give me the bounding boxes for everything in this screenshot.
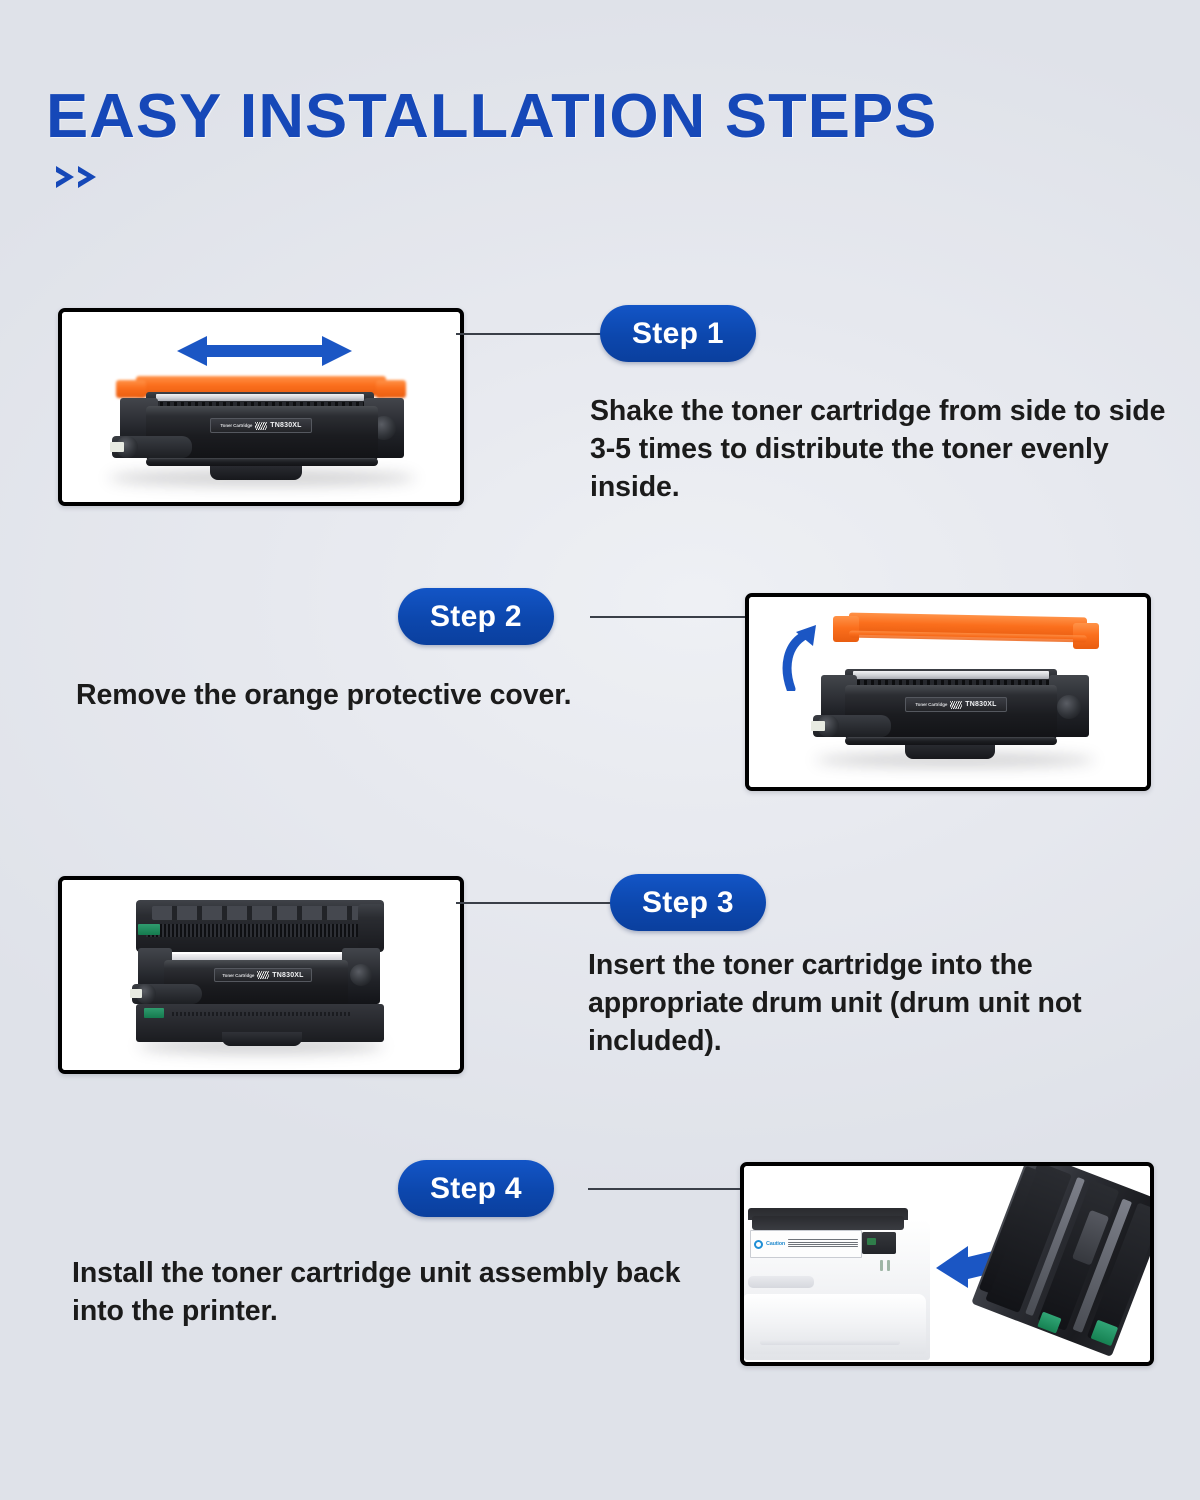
step-2-connector (590, 616, 745, 618)
step-1-image-frame: Toner Cartridge TN830XL (58, 308, 464, 506)
printer-illustration: Caution (740, 1208, 940, 1358)
step-1-description: Shake the toner cartridge from side to s… (590, 392, 1170, 507)
cartridge-label-model: TN830XL (272, 972, 303, 979)
step-4-photo: Caution (744, 1166, 1150, 1362)
orange-protective-cover (831, 613, 1101, 653)
double-headed-horizontal-arrow-icon (177, 334, 352, 368)
step-4-badge[interactable]: Step 4 (398, 1160, 554, 1217)
step-3-badge[interactable]: Step 3 (610, 874, 766, 931)
printer-label-word: Caution (766, 1241, 785, 1247)
toner-cartridge-illustration: Toner Cartridge TN830XL (805, 657, 1105, 775)
step-4-image-frame: Caution (740, 1162, 1154, 1366)
step-2-description: Remove the orange protective cover. (76, 676, 696, 714)
step-4-connector (588, 1188, 740, 1190)
cartridge-label-model: TN830XL (965, 701, 996, 708)
step-1-badge[interactable]: Step 1 (600, 305, 756, 362)
recycle-logo-icon (754, 1240, 763, 1249)
cartridge-label: Toner Cartridge TN830XL (210, 418, 312, 433)
drum-unit-illustration: Toner Cartridge TN830XL (130, 898, 392, 1058)
brand-logo-icon (950, 701, 962, 709)
double-chevron-right-icon (52, 162, 920, 192)
step-2-image-frame: Toner Cartridge TN830XL (745, 593, 1151, 791)
cartridge-label: Toner Cartridge TN830XL (214, 968, 312, 982)
step-3-badge-label: Step 3 (642, 886, 734, 920)
step-3-image-frame: Toner Cartridge TN830XL (58, 876, 464, 1074)
cartridge-label-brand: Toner Cartridge (222, 973, 254, 978)
brand-logo-icon (255, 422, 267, 430)
toner-cartridge-illustration: Toner Cartridge TN830XL (98, 374, 426, 494)
step-2-badge-label: Step 2 (430, 600, 522, 634)
page-title: EASY INSTALLATION STEPS (46, 86, 937, 148)
brand-logo-icon (257, 971, 269, 979)
drum-green-tab-top (138, 924, 160, 935)
step-4-badge-label: Step 4 (430, 1172, 522, 1206)
step-3-connector (456, 902, 624, 904)
cartridge-label: Toner Cartridge TN830XL (905, 697, 1007, 712)
printer-label-lines (788, 1239, 858, 1249)
step-3-photo: Toner Cartridge TN830XL (62, 880, 460, 1070)
step-2-badge[interactable]: Step 2 (398, 588, 554, 645)
drum-green-tab-bottom (144, 1008, 164, 1018)
printer-caution-label: Caution (750, 1230, 862, 1258)
page-header: EASY INSTALLATION STEPS (46, 86, 920, 192)
step-1-badge-label: Step 1 (632, 317, 724, 351)
step-3-description: Insert the toner cartridge into the appr… (588, 946, 1168, 1061)
step-1-connector (456, 333, 616, 335)
step-2-photo: Toner Cartridge TN830XL (749, 597, 1147, 787)
cartridge-label-brand: Toner Cartridge (220, 423, 252, 428)
cartridge-label-brand: Toner Cartridge (915, 702, 947, 707)
cartridge-label-model: TN830XL (270, 422, 301, 429)
step-1-photo: Toner Cartridge TN830XL (62, 312, 460, 502)
toner-drum-assembly-illustration (946, 1162, 1154, 1366)
step-4-description: Install the toner cartridge unit assembl… (72, 1254, 712, 1330)
